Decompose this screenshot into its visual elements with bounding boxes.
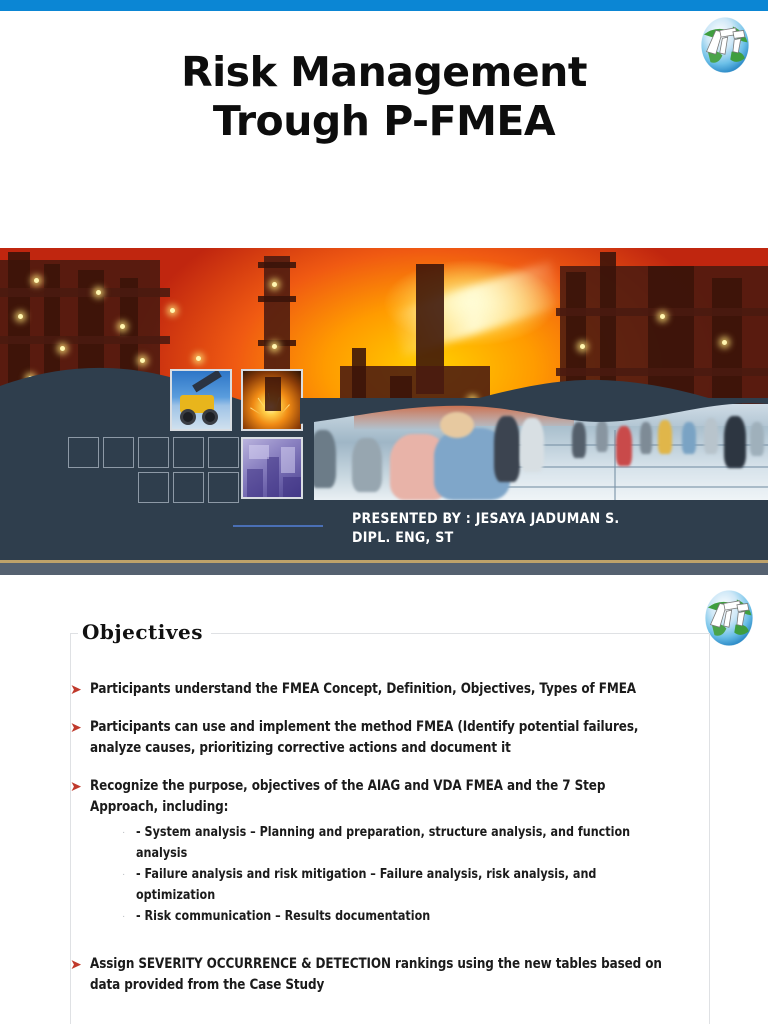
list-item: ➤ Participants understand the FMEA Conce…	[68, 679, 718, 700]
decor-square	[138, 472, 169, 503]
arrow-bullet-icon: ➤	[68, 954, 90, 975]
list-item-text: Recognize the purpose, objectives of the…	[90, 776, 668, 818]
decor-square	[68, 437, 99, 468]
list-item: ➤ Participants can use and implement the…	[68, 717, 718, 759]
sub-list-item-text: - Risk communication – Results documenta…	[136, 906, 671, 927]
decor-square	[208, 472, 239, 503]
presenter-credit: PRESENTED BY : JESAYA JADUMAN S. DIPL. E…	[352, 510, 619, 548]
arrow-bullet-icon: ➤	[68, 717, 90, 738]
slide-title: Risk Management Trough P-FMEA	[0, 48, 768, 146]
sub-list-item-text: - Failure analysis and risk mitigation –…	[136, 864, 671, 906]
arrow-bullet-icon: ➤	[68, 776, 90, 797]
presenter-line-1: PRESENTED BY : JESAYA JADUMAN S.	[352, 510, 619, 529]
sub-bullet-icon: ·	[122, 906, 136, 927]
white-wave-edge	[300, 398, 768, 442]
title-line-2: Trough P-FMEA	[0, 97, 768, 146]
arrow-bullet-icon: ➤	[68, 679, 90, 700]
list-item-text: Participants can use and implement the m…	[90, 717, 668, 759]
excavator-arm	[192, 370, 222, 393]
excavator-wheel	[202, 409, 218, 425]
list-item-text: Participants understand the FMEA Concept…	[90, 679, 668, 700]
decor-square	[138, 437, 169, 468]
slide-separator-slate	[0, 563, 768, 575]
title-line-1: Risk Management	[0, 48, 768, 97]
excavator-wheel	[180, 409, 196, 425]
factory-purple-thumbnail	[241, 437, 303, 499]
welding-sparks-thumbnail	[241, 369, 303, 431]
objectives-bullet-list: ➤ Participants understand the FMEA Conce…	[68, 679, 718, 1024]
decor-square	[173, 437, 204, 468]
presenter-rule	[233, 525, 323, 527]
decor-square	[103, 437, 134, 468]
top-accent-bar	[0, 0, 768, 11]
list-item-text: Assign SEVERITY OCCURRENCE & DETECTION r…	[90, 954, 668, 996]
sub-list-item: · - Failure analysis and risk mitigation…	[68, 864, 718, 906]
list-item: ➤ Recognize the purpose, objectives of t…	[68, 776, 718, 818]
decor-square	[173, 472, 204, 503]
objectives-heading: Objectives	[78, 620, 211, 644]
title-slide: Risk Management Trough P-FMEA	[0, 0, 768, 575]
sub-list-item: · - System analysis – Planning and prepa…	[68, 822, 718, 864]
list-item: ➤ Assign SEVERITY OCCURRENCE & DETECTION…	[68, 954, 718, 996]
sub-list-item: · - Risk communication – Results documen…	[68, 906, 718, 927]
sub-list-item-text: - System analysis – Planning and prepara…	[136, 822, 671, 864]
decor-square	[208, 437, 239, 468]
objectives-slide: Objectives ➤ Participants understand the…	[0, 575, 768, 1024]
excavator-thumbnail	[170, 369, 232, 431]
sub-bullet-icon: ·	[122, 822, 136, 843]
presenter-line-2: DIPL. ENG, ST	[352, 529, 619, 548]
sub-bullet-list: · - System analysis – Planning and prepa…	[68, 822, 718, 927]
sub-bullet-icon: ·	[122, 864, 136, 885]
